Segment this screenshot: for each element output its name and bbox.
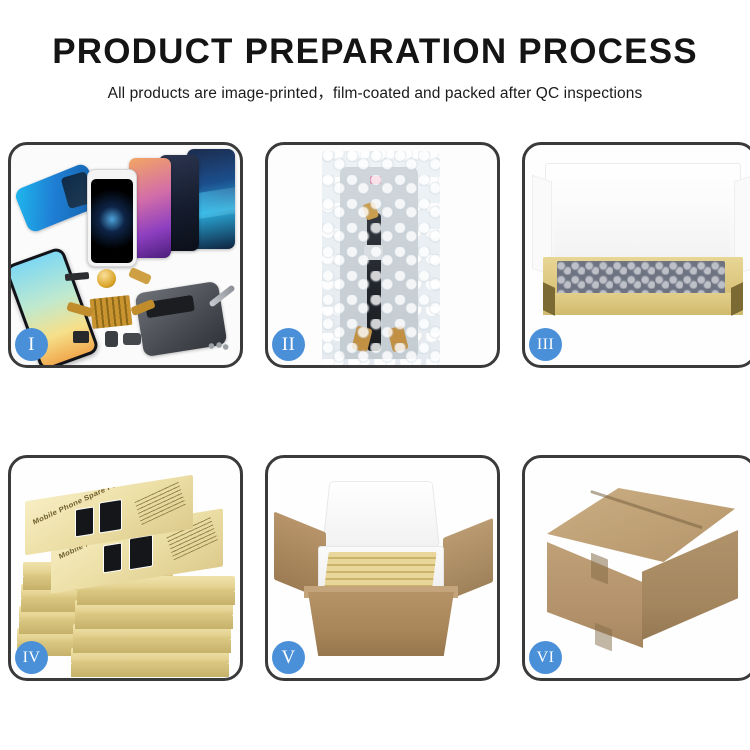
step-badge-4: IV (15, 641, 48, 674)
gold-tray-front-face (543, 293, 743, 315)
driver-ic-row (354, 343, 410, 359)
page-subtitle: All products are image-printed，film-coat… (0, 81, 750, 103)
phone-artwork-thumb (103, 542, 122, 573)
foam-box-lid-image (322, 481, 440, 547)
screen-connector (364, 245, 383, 260)
earpiece-speaker-part (65, 272, 90, 281)
process-step-2[interactable]: II (265, 142, 500, 368)
bubble-wrap-bag-image (322, 151, 440, 365)
photo-sealed-carton (525, 458, 750, 678)
photo-bubble-wrapped-screen (268, 145, 497, 365)
step-badge-1: I (15, 328, 48, 361)
page-title: PRODUCT PREPARATION PROCESS (0, 34, 750, 71)
phone-artwork-thumb (129, 534, 153, 570)
page-header: PRODUCT PREPARATION PROCESS All products… (0, 0, 750, 103)
lid-spec-lines (134, 481, 186, 525)
step-badge-2: II (272, 328, 305, 361)
gold-vibration-motor-part (97, 269, 116, 288)
chip-component-part (73, 331, 89, 343)
front-glass-panel-image (87, 169, 137, 267)
photo-stacked-gold-boxes: Mobile Phone Spare Parts Mobile Phone Sp… (11, 458, 240, 678)
gold-tray-left-flap (543, 282, 555, 316)
process-step-3[interactable]: III (522, 142, 750, 368)
step-badge-6: VI (529, 641, 562, 674)
process-step-1[interactable]: I (8, 142, 243, 368)
loudspeaker-part (123, 333, 141, 345)
process-step-6[interactable]: VI (522, 455, 750, 681)
lcd-screen-assembly-image (340, 167, 418, 359)
screws-part (207, 341, 229, 351)
phone-artwork-thumb (99, 499, 122, 534)
step-badge-3: III (529, 328, 562, 361)
outer-carton-body (308, 592, 454, 656)
pink-qc-label (370, 176, 381, 184)
photo-open-gold-box (525, 145, 750, 365)
camera-module-part (105, 331, 118, 347)
process-steps-grid: I II (8, 142, 742, 681)
gold-tray-right-flap (731, 282, 743, 316)
photo-assorted-phone-parts (11, 145, 240, 365)
process-step-5[interactable]: V (265, 455, 500, 681)
photo-carton-with-foam-box (268, 458, 497, 678)
flex-cable-part-3 (128, 267, 152, 285)
bubble-wrap-fill-image (557, 261, 725, 297)
screw-organizer-part (90, 295, 133, 329)
phone-artwork-thumb (75, 506, 94, 537)
step-badge-5: V (272, 641, 305, 674)
process-step-4[interactable]: Mobile Phone Spare Parts Mobile Phone Sp… (8, 455, 243, 681)
